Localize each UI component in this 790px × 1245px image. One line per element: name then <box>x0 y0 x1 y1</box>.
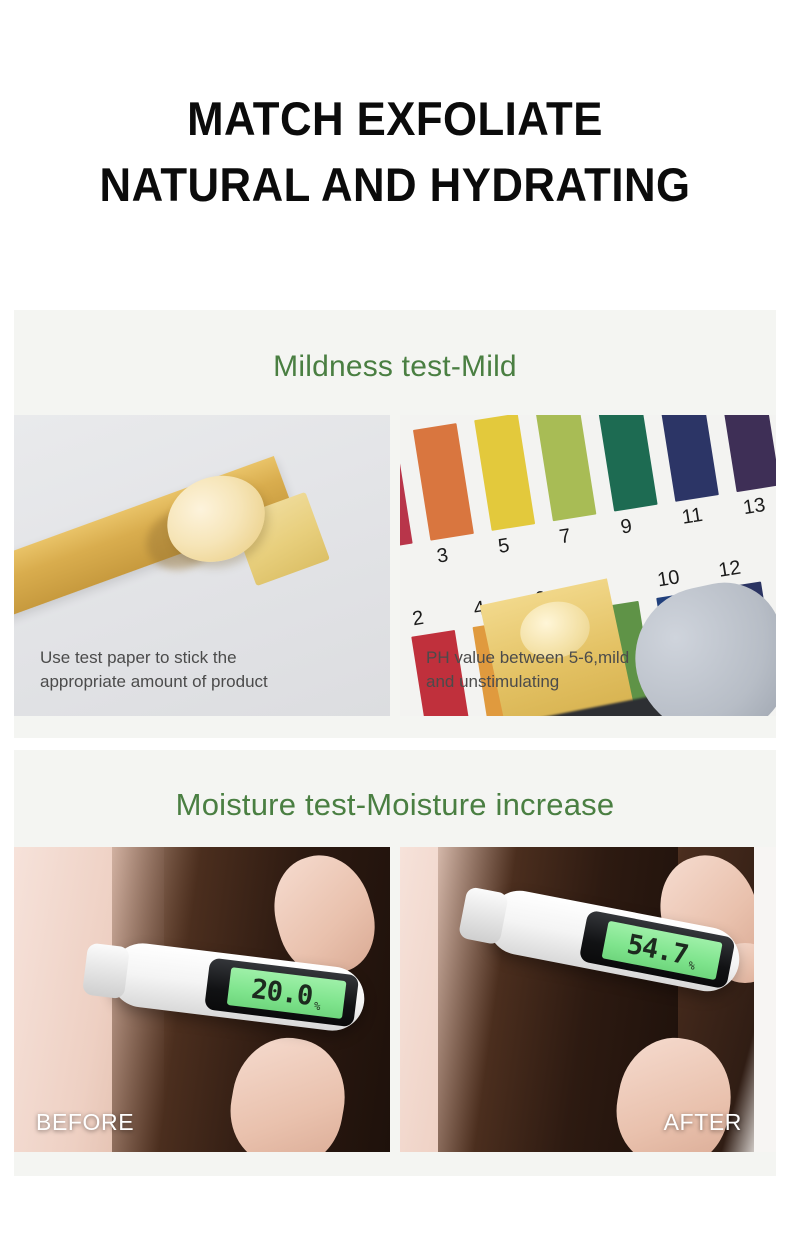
ph-swatch-9 <box>597 415 658 512</box>
ph-swatch-13 <box>719 415 776 492</box>
ph-number-7: 7 <box>558 525 573 549</box>
caption-test-paper-line-1: Use test paper to stick the <box>40 646 374 670</box>
ph-number-5: 5 <box>497 534 512 558</box>
section-mildness-title: Mildness test-Mild <box>14 310 776 384</box>
page-headline: MATCH EXFOLIATE NATURAL AND HYDRATING <box>0 0 790 218</box>
photo-gutter <box>390 415 400 716</box>
ph-number-3: 3 <box>435 544 450 568</box>
photo-after: 54.7 % AFTER <box>400 847 776 1152</box>
meter-reading-before: 20.0 <box>250 975 314 1009</box>
ph-swatch-3 <box>413 423 474 541</box>
ph-swatch-1 <box>400 433 413 551</box>
caption-ph-value: PH value between 5-6,mild and unstimulat… <box>426 646 760 694</box>
ph-swatch-11 <box>658 415 719 502</box>
ph-number-9: 9 <box>619 515 634 539</box>
photo-gutter <box>390 847 400 1152</box>
ph-number-12: 12 <box>717 557 743 583</box>
caption-ph-value-line-1: PH value between 5-6,mild <box>426 646 760 670</box>
photo-before: 20.0 % BEFORE <box>14 847 390 1152</box>
section-moisture: Moisture test-Moisture increase 20.0 % B… <box>14 750 776 1176</box>
section-moisture-title: Moisture test-Moisture increase <box>14 750 776 822</box>
label-before: BEFORE <box>36 1109 134 1136</box>
caption-test-paper-line-2: appropriate amount of product <box>40 670 374 694</box>
mildness-photo-row: Use test paper to stick the appropriate … <box>14 415 776 716</box>
ph-number-11: 11 <box>680 504 704 530</box>
headline-line-1: MATCH EXFOLIATE <box>28 86 763 152</box>
after-photo-edge <box>754 847 776 1152</box>
ph-swatch-7 <box>535 415 596 521</box>
headline-line-2: NATURAL AND HYDRATING <box>28 152 763 218</box>
label-after: AFTER <box>664 1109 742 1136</box>
meter-reading-after: 54.7 <box>625 930 690 968</box>
section-mildness: Mildness test-Mild Use test paper to sti… <box>14 310 776 738</box>
meter-unit-after: % <box>687 959 696 973</box>
ph-number-10: 10 <box>656 566 682 592</box>
photo-test-paper: Use test paper to stick the appropriate … <box>14 415 390 716</box>
ph-number-2: 2 <box>411 607 426 631</box>
caption-ph-value-line-2: and unstimulating <box>426 670 760 694</box>
ph-number-13: 13 <box>742 494 768 520</box>
meter-probe <box>458 886 509 945</box>
photo-ph-chart: 1357911132468101214 PH value between 5-6… <box>400 415 776 716</box>
meter-probe <box>82 942 130 999</box>
ph-swatch-5 <box>474 415 535 531</box>
caption-test-paper: Use test paper to stick the appropriate … <box>40 646 374 694</box>
meter-unit-before: % <box>313 1000 321 1014</box>
moisture-photo-row: 20.0 % BEFORE 54.7 % AFTER <box>14 847 776 1152</box>
